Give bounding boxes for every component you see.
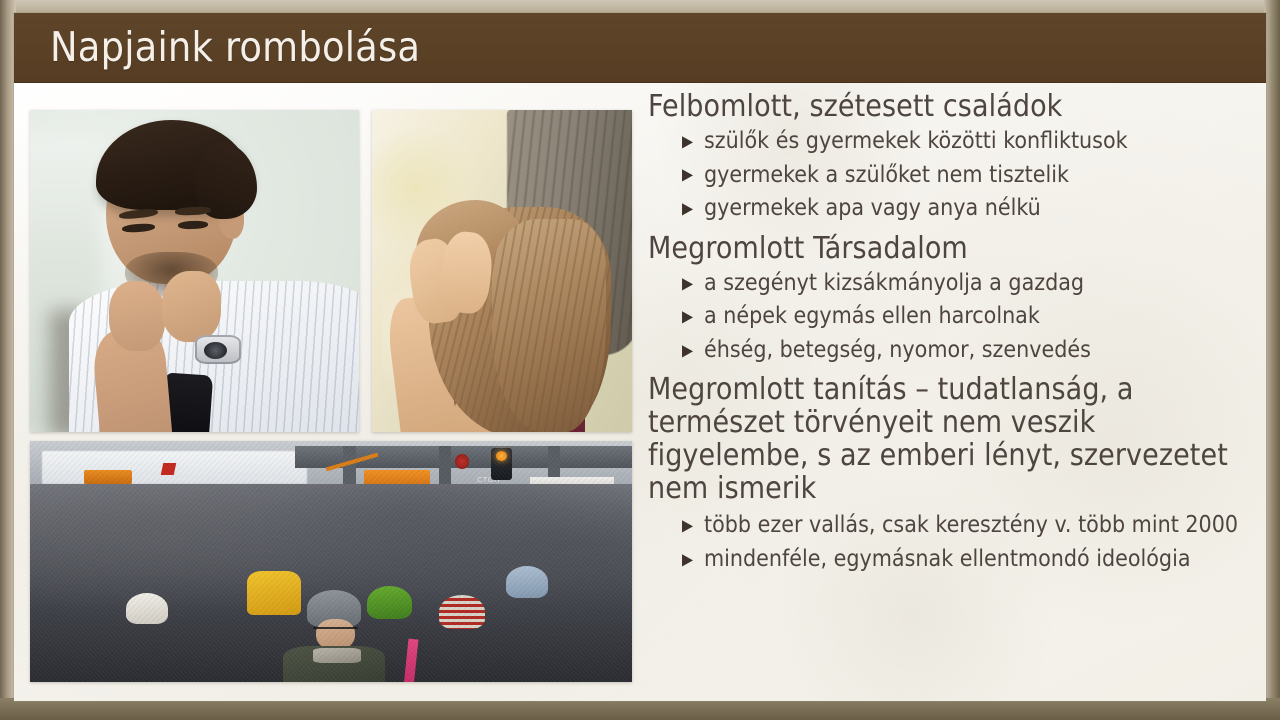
crowd-truck (84, 470, 132, 484)
woman-hair-front (492, 219, 606, 432)
triangle-bullet-icon: ▶ (682, 342, 693, 358)
slide-frame: Napjaink rombolása (0, 0, 1280, 720)
triangle-bullet-icon: ▶ (682, 552, 693, 568)
man-hand-right (162, 271, 221, 342)
title-bar: Napjaink rombolása (14, 13, 1266, 83)
list-item: ▶ éhség, betegség, nyomor, szenvedés (704, 334, 1248, 368)
crowd-scarf (313, 648, 361, 662)
bullet-list: ▶ szülők és gyermekek közötti konfliktus… (648, 125, 1248, 226)
list-item-label: több ezer vallás, csak keresztény v. töb… (704, 512, 1238, 538)
page-title: Napjaink rombolása (50, 23, 420, 71)
list-item-label: gyermekek apa vagy anya nélkü (704, 195, 1041, 221)
crowd-yellow-jacket (247, 571, 301, 614)
content-block: Megromlott tanítás – tudatlanság, a term… (648, 373, 1248, 576)
section-heading: Felbomlott, szétesett családok (648, 90, 1248, 123)
list-item: ▶ a népek egymás ellen harcolnak (704, 300, 1248, 334)
list-item: ▶ szülők és gyermekek közötti konfliktus… (704, 125, 1248, 159)
content-block: Megromlott Társadalom ▶ a szegényt kizsá… (648, 232, 1248, 368)
triangle-bullet-icon: ▶ (682, 167, 693, 183)
triangle-bullet-icon: ▶ (682, 133, 693, 149)
frame-edge-right (1264, 0, 1280, 720)
photo-pensive-man (30, 110, 359, 432)
bullet-list: ▶ a szegényt kizsákmányolja a gazdag ▶ a… (648, 267, 1248, 368)
triangle-bullet-icon: ▶ (682, 275, 693, 291)
list-item: ▶ a szegényt kizsákmányolja a gazdag (704, 267, 1248, 301)
photo-winter-crowd: СТОП (30, 441, 632, 682)
triangle-bullet-icon: ▶ (682, 518, 693, 534)
man-hand-left (109, 281, 165, 352)
section-heading: Megromlott Társadalom (648, 232, 1248, 265)
crowd-eyeglasses (313, 627, 358, 635)
list-item: ▶ több ezer vallás, csak keresztény v. t… (704, 509, 1248, 543)
list-item-label: szülők és gyermekek közötti konfliktusok (704, 128, 1128, 154)
list-item-label: a szegényt kizsákmányolja a gazdag (704, 270, 1084, 296)
crowd-blue-hat (506, 566, 548, 597)
photo-distressed-woman (372, 110, 632, 432)
content-block: Felbomlott, szétesett családok ▶ szülők … (648, 90, 1248, 226)
triangle-bullet-icon: ▶ (682, 201, 693, 217)
content-column: Felbomlott, szétesett családok ▶ szülők … (648, 90, 1248, 583)
list-item-label: gyermekek a szülőket nem tisztelik (704, 162, 1069, 188)
crowd-pylon (439, 446, 451, 489)
crowd-white-hat (126, 593, 168, 624)
frame-edge-bottom (0, 698, 1280, 720)
bullet-list: ▶ több ezer vallás, csak keresztény v. t… (648, 509, 1248, 576)
crowd-green-hat (367, 586, 412, 620)
list-item: ▶ gyermekek a szülőket nem tisztelik (704, 159, 1248, 193)
list-item-label: a népek egymás ellen harcolnak (704, 303, 1040, 329)
crowd-striped-hat (439, 595, 484, 629)
list-item: ▶ gyermekek apa vagy anya nélkü (704, 192, 1248, 226)
list-item-label: mindenféle, egymásnak ellentmondó ideoló… (704, 546, 1191, 572)
list-item-label: éhség, betegség, nyomor, szenvedés (704, 337, 1091, 363)
frame-edge-top (0, 0, 1280, 14)
triangle-bullet-icon: ▶ (682, 309, 693, 325)
section-heading: Megromlott tanítás – tudatlanság, a term… (648, 373, 1248, 505)
stop-sign-icon (455, 454, 469, 468)
list-item: ▶ mindenféle, egymásnak ellentmondó ideo… (704, 543, 1248, 577)
